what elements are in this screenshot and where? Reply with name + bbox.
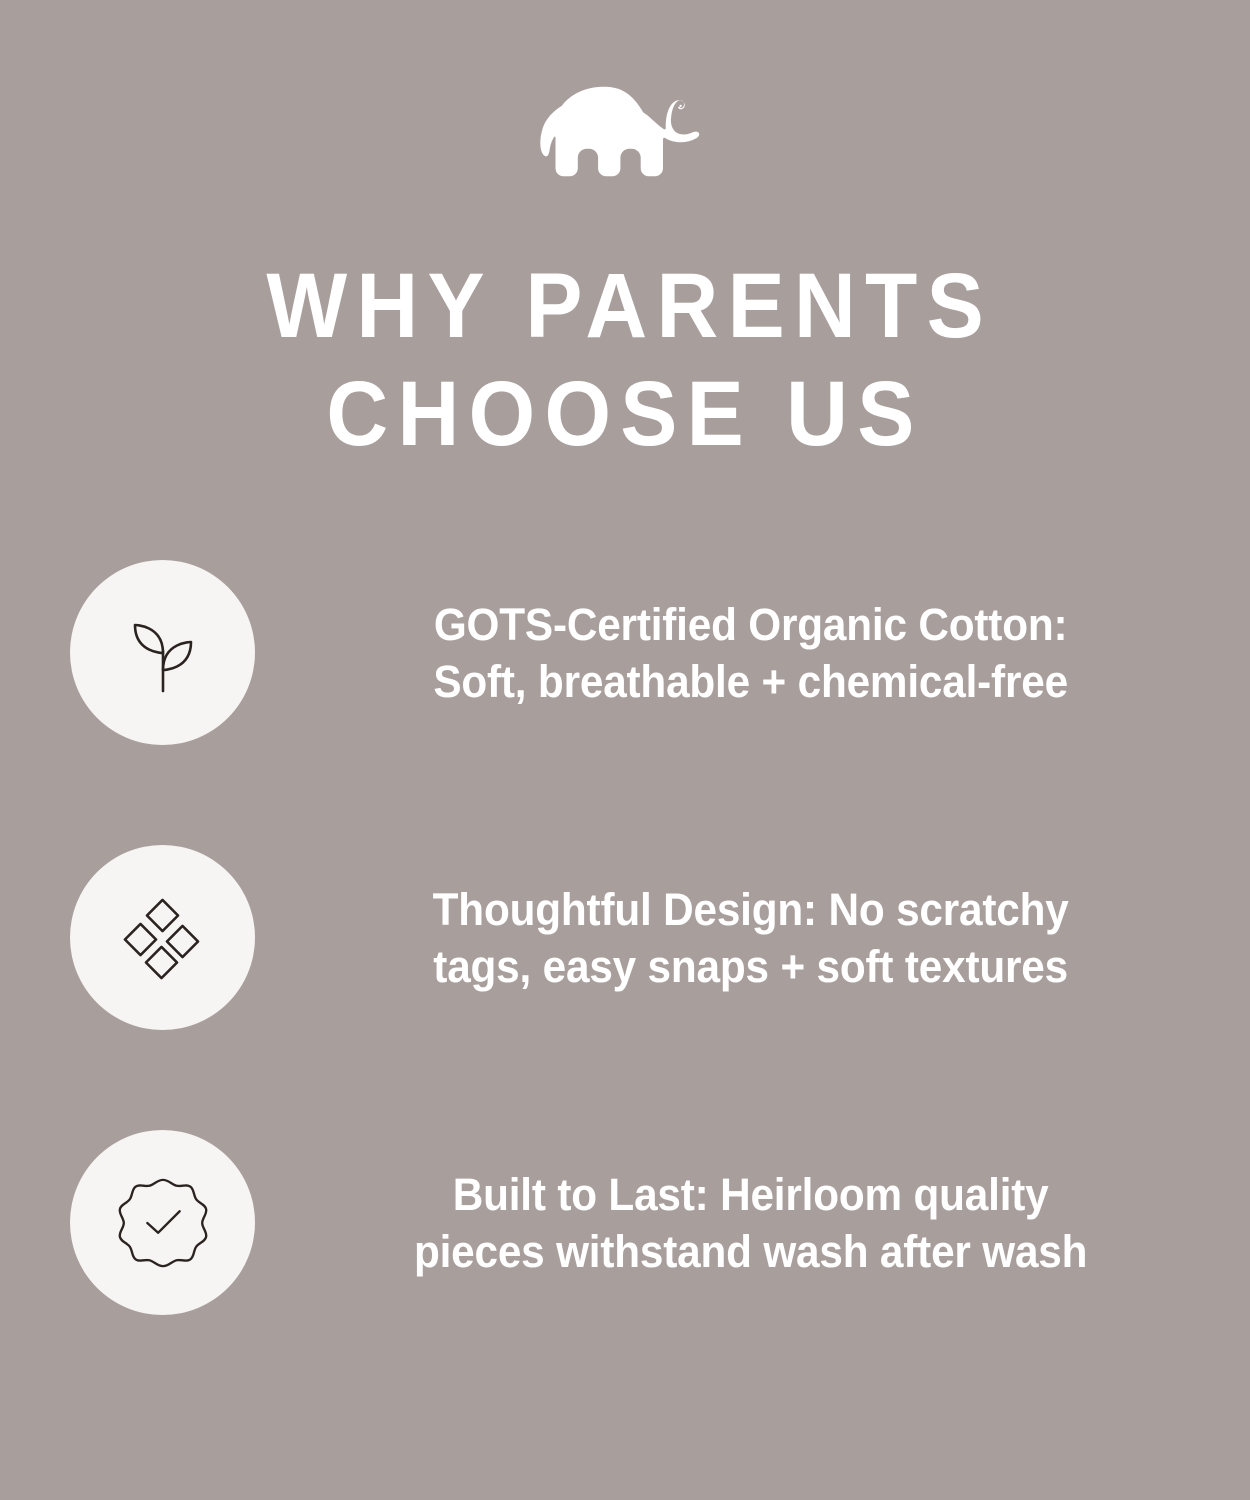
elephant-logo-icon: [540, 78, 710, 190]
page-title: WHY PARENTS CHOOSE US: [44, 252, 1207, 468]
feature-item-built-to-last: Built to Last: Heirloom quality pieces w…: [0, 1130, 1250, 1315]
feature-text: Thoughtful Design: No scratchy tags, eas…: [285, 881, 1220, 995]
feature-item-organic-cotton: GOTS-Certified Organic Cotton: Soft, bre…: [0, 560, 1250, 745]
feature-text: Built to Last: Heirloom quality pieces w…: [285, 1166, 1220, 1280]
sprout-icon: [117, 607, 209, 699]
feature-text: GOTS-Certified Organic Cotton: Soft, bre…: [285, 596, 1220, 710]
brand-logo: [0, 78, 1250, 190]
feature-item-thoughtful-design: Thoughtful Design: No scratchy tags, eas…: [0, 845, 1250, 1030]
feature-icon-badge: [70, 560, 255, 745]
four-diamonds-icon: [117, 892, 209, 984]
feature-icon-badge: [70, 845, 255, 1030]
scalloped-check-badge-icon: [114, 1174, 212, 1272]
feature-icon-badge: [70, 1130, 255, 1315]
feature-list: GOTS-Certified Organic Cotton: Soft, bre…: [0, 560, 1250, 1315]
